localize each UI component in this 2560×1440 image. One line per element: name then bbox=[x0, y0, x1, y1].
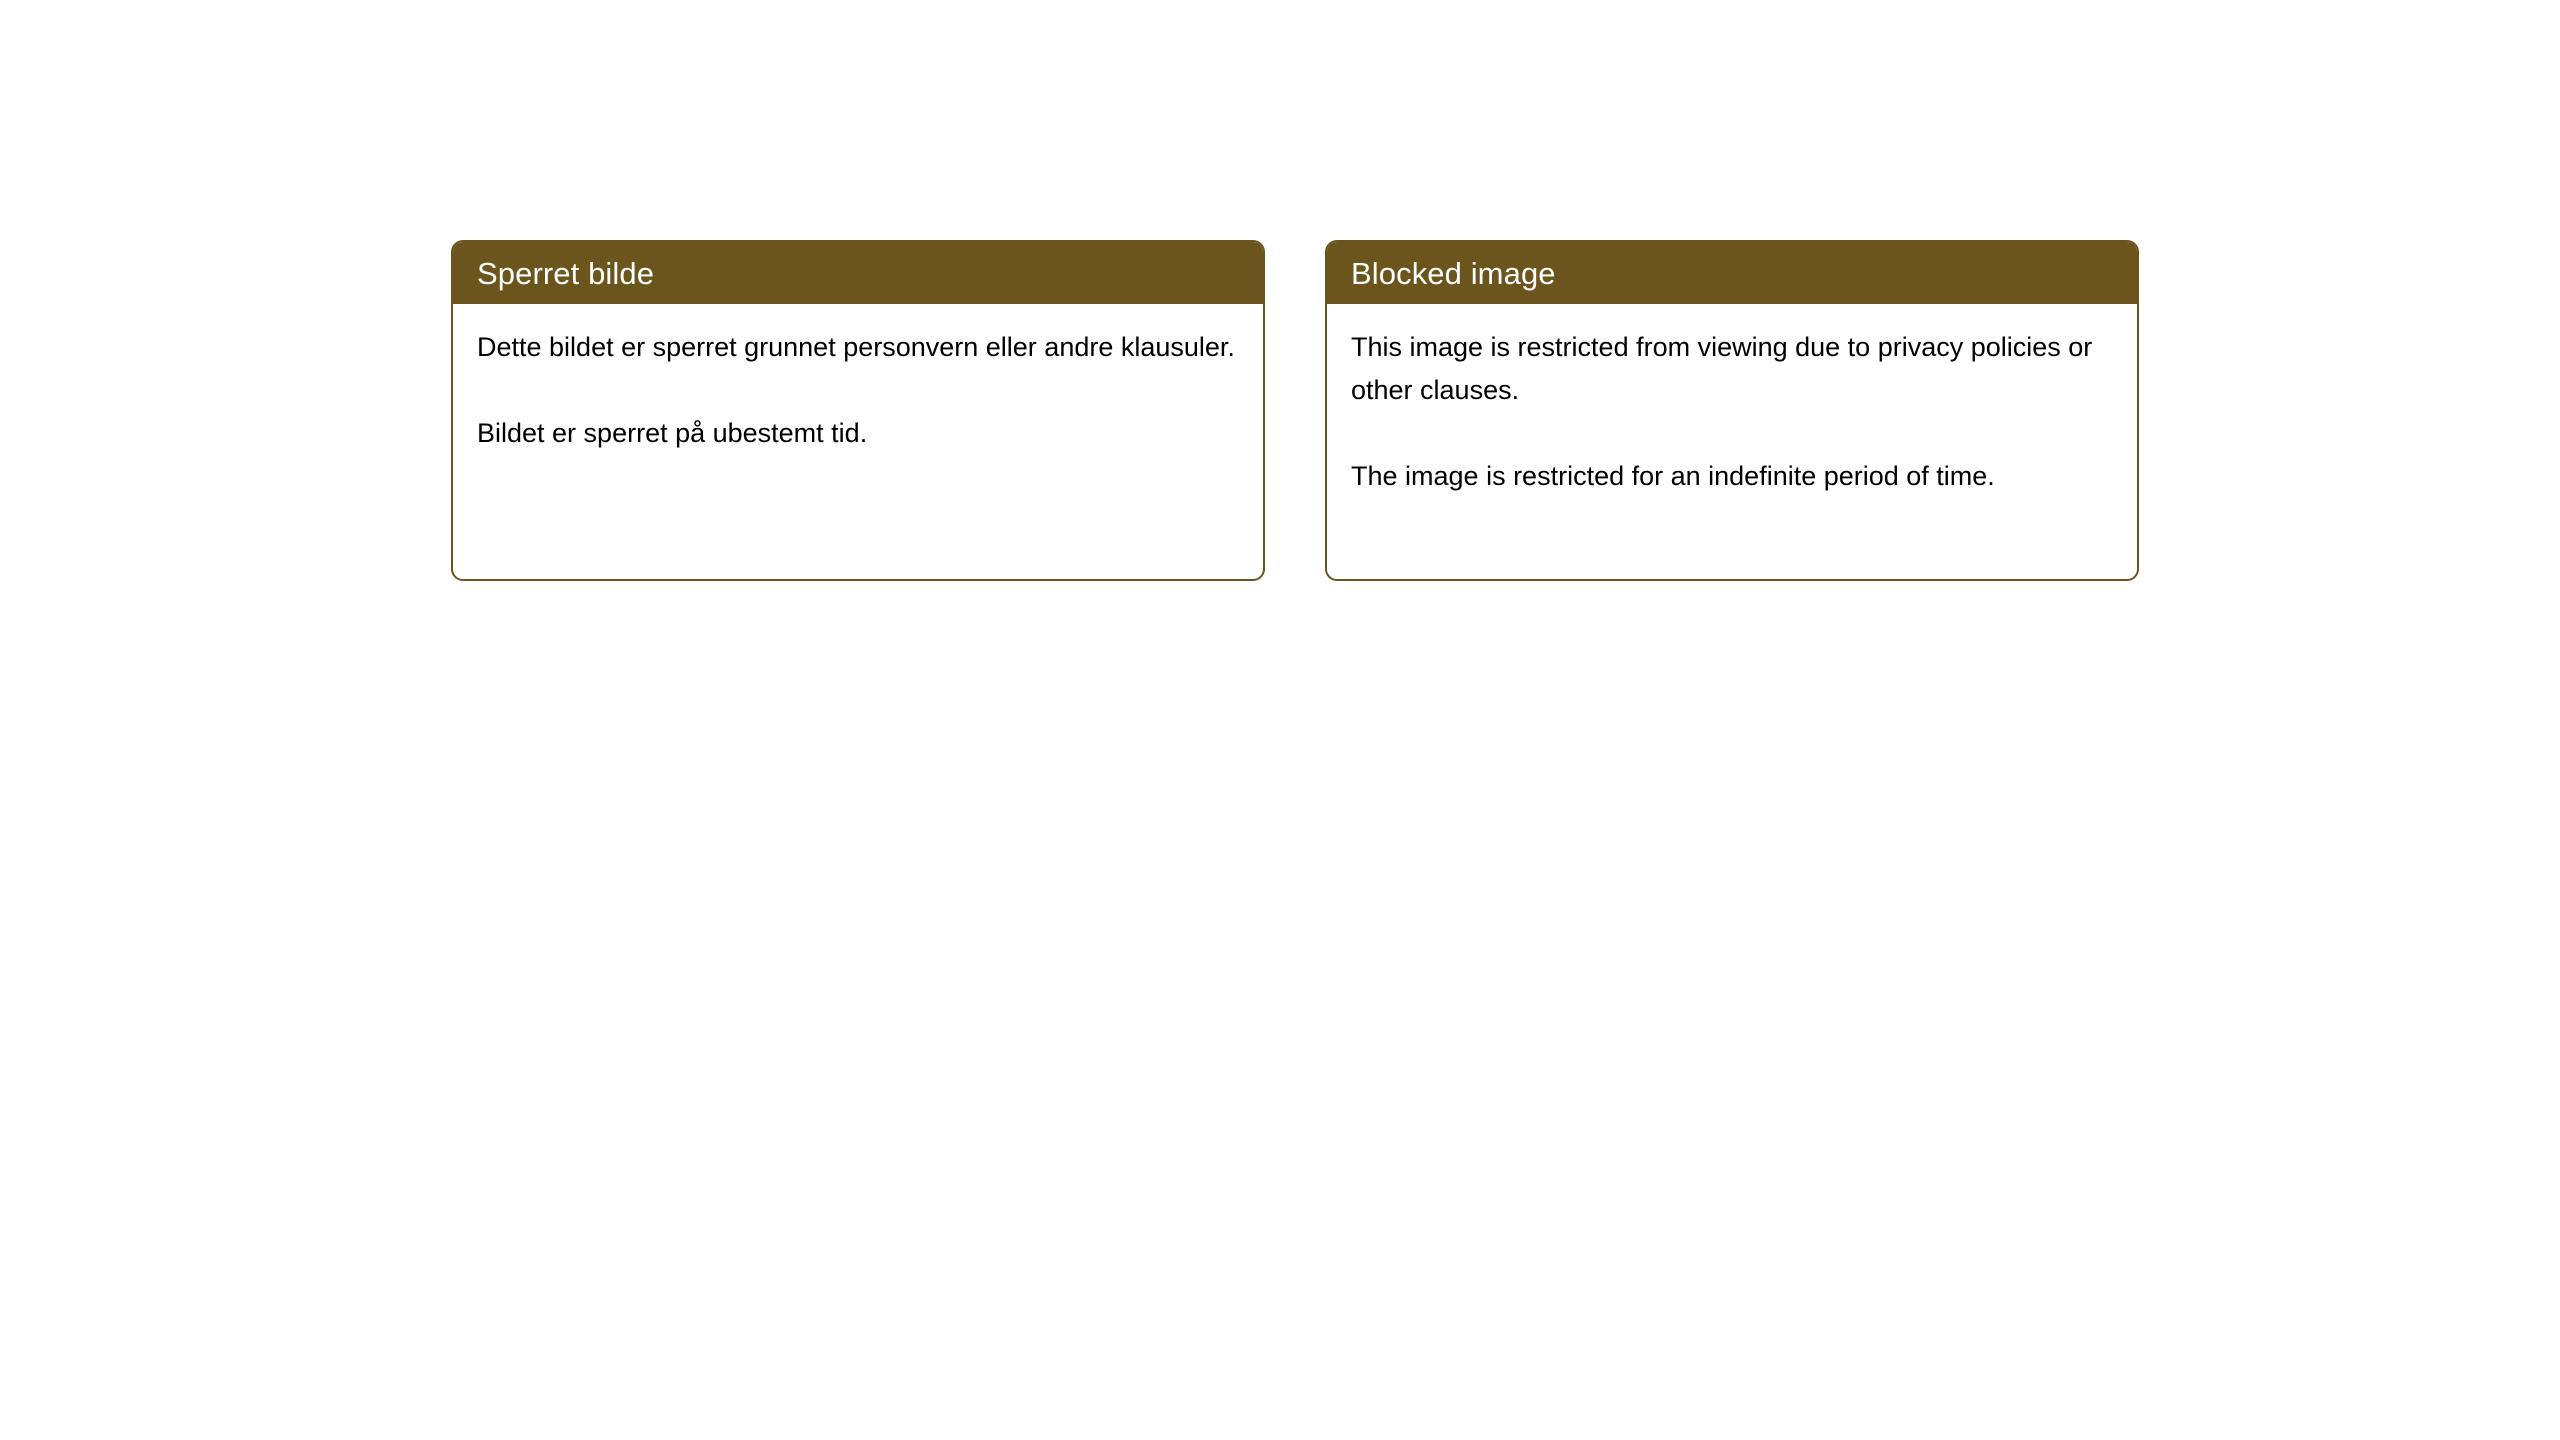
card-body-english: This image is restricted from viewing du… bbox=[1327, 304, 2137, 498]
page-root: Sperret bilde Dette bildet er sperret gr… bbox=[0, 0, 2560, 1440]
blocked-image-notice-card-english: Blocked image This image is restricted f… bbox=[1325, 240, 2139, 581]
card-title-norwegian: Sperret bilde bbox=[477, 258, 654, 289]
card-title-english: Blocked image bbox=[1351, 258, 1556, 289]
card-body-norwegian: Dette bildet er sperret grunnet personve… bbox=[453, 304, 1263, 455]
card-paragraph-primary-english: This image is restricted from viewing du… bbox=[1351, 326, 2111, 412]
card-paragraph-secondary-english: The image is restricted for an indefinit… bbox=[1351, 455, 2111, 498]
card-header-english: Blocked image bbox=[1327, 242, 2137, 304]
blocked-image-notice-card-norwegian: Sperret bilde Dette bildet er sperret gr… bbox=[451, 240, 1265, 581]
card-paragraph-primary-norwegian: Dette bildet er sperret grunnet personve… bbox=[477, 326, 1237, 369]
card-paragraph-secondary-norwegian: Bildet er sperret på ubestemt tid. bbox=[477, 412, 1237, 455]
card-header-norwegian: Sperret bilde bbox=[453, 242, 1263, 304]
